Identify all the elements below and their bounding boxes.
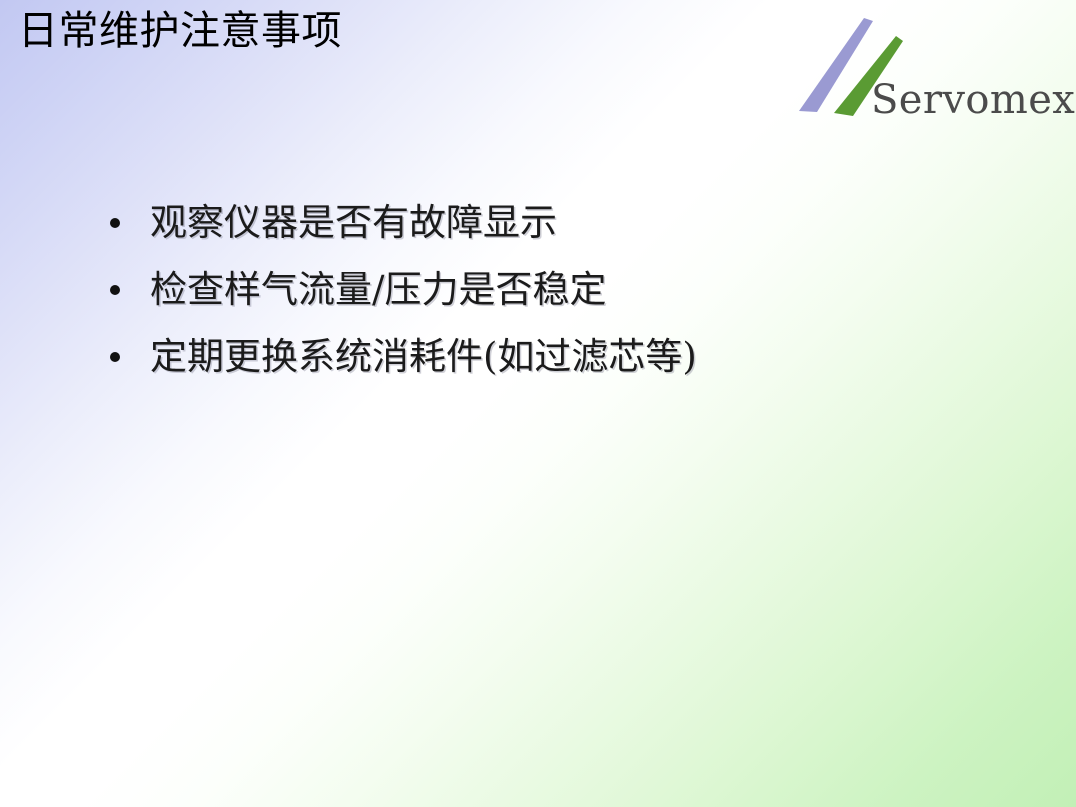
list-item-label: 检查样气流量/压力是否稳定 — [150, 263, 606, 317]
bullet-list: 观察仪器是否有故障显示 检查样气流量/压力是否稳定 定期更换系统消耗件(如过滤芯… — [108, 196, 1008, 397]
slide-title: 日常维护注意事项 — [18, 4, 342, 58]
list-item-label: 定期更换系统消耗件(如过滤芯等) — [150, 330, 697, 384]
list-item: 检查样气流量/压力是否稳定 — [108, 263, 1008, 330]
servomex-wordmark: Servomex — [871, 78, 1075, 122]
presentation-slide: 日常维护注意事项 Servomex 观察仪器是否有故障显示 检查样气流量/压力是… — [0, 0, 1076, 807]
servomex-logo: Servomex — [793, 14, 1068, 126]
bullet-dot-icon — [110, 352, 120, 362]
list-item-label: 观察仪器是否有故障显示 — [150, 196, 557, 250]
list-item: 观察仪器是否有故障显示 — [108, 196, 1008, 263]
bullet-dot-icon — [110, 218, 120, 228]
bullet-dot-icon — [110, 285, 120, 295]
list-item: 定期更换系统消耗件(如过滤芯等) — [108, 330, 1008, 397]
